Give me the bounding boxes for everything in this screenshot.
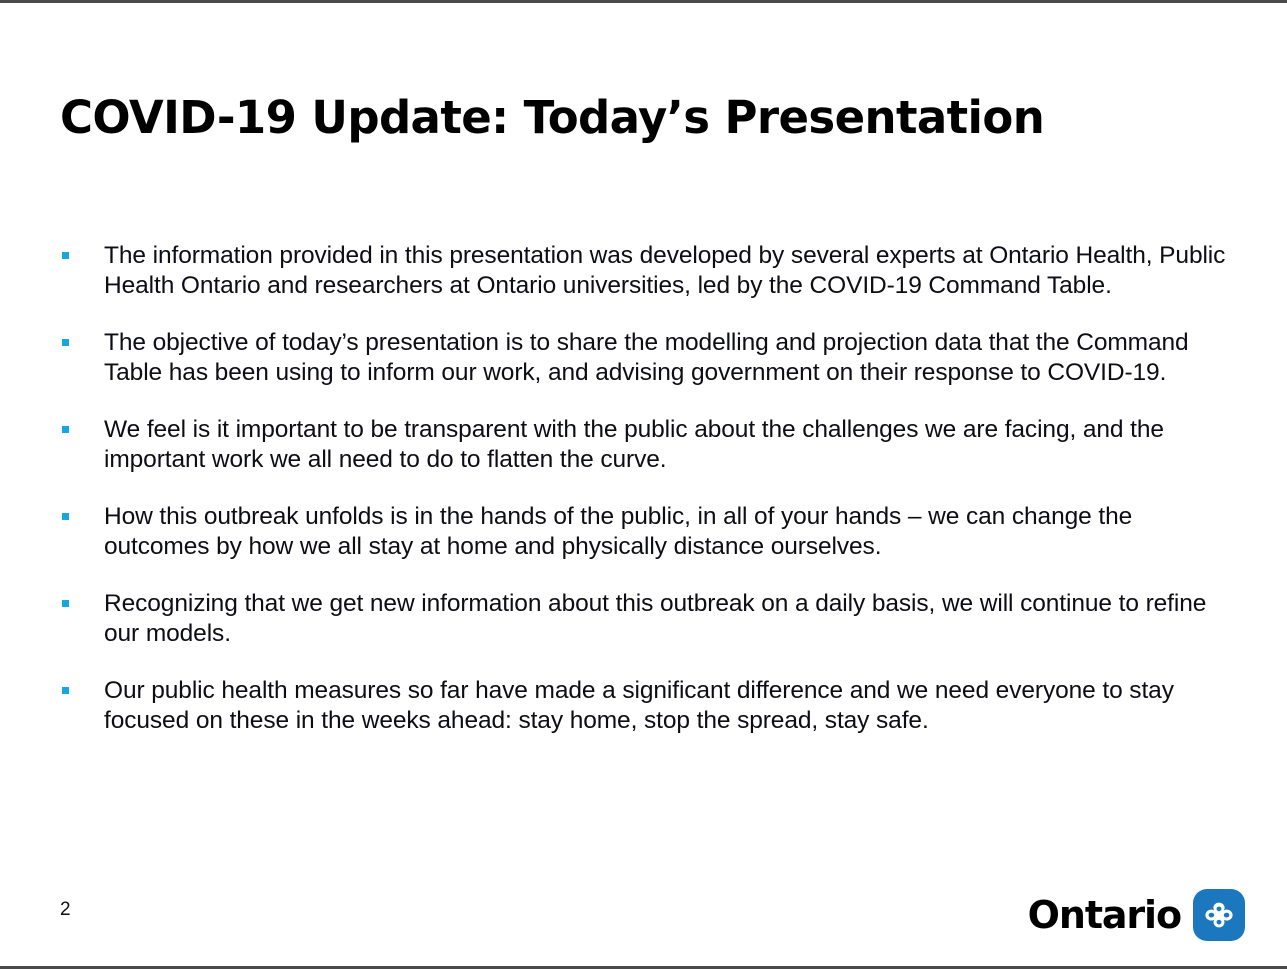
bullet-dot-icon <box>62 426 69 433</box>
bullet-dot-icon <box>62 339 69 346</box>
presentation-slide: COVID-19 Update: Today’s Presentation Th… <box>0 0 1287 969</box>
list-item-text: We feel is it important to be transparen… <box>104 415 1238 475</box>
bullet-dot-icon <box>62 513 69 520</box>
list-item: How this outbreak unfolds is in the hand… <box>58 502 1238 562</box>
list-item-text: The information provided in this present… <box>104 241 1238 301</box>
bullet-dot-icon <box>62 252 69 259</box>
bullet-list: The information provided in this present… <box>58 241 1238 736</box>
ontario-logo: Ontario <box>1028 889 1245 941</box>
ontario-trillium-icon <box>1193 889 1245 941</box>
bullet-dot-icon <box>62 687 69 694</box>
list-item-text: Our public health measures so far have m… <box>104 676 1238 736</box>
bullet-dot-icon <box>62 600 69 607</box>
list-item: Our public health measures so far have m… <box>58 676 1238 736</box>
list-item: The objective of today’s presentation is… <box>58 328 1238 388</box>
ontario-wordmark: Ontario <box>1028 896 1181 934</box>
list-item-text: How this outbreak unfolds is in the hand… <box>104 502 1238 562</box>
list-item: Recognizing that we get new information … <box>58 589 1238 649</box>
list-item-text: Recognizing that we get new information … <box>104 589 1238 649</box>
list-item: The information provided in this present… <box>58 241 1238 301</box>
list-item: We feel is it important to be transparen… <box>58 415 1238 475</box>
page-number: 2 <box>60 900 71 919</box>
page-title: COVID-19 Update: Today’s Presentation <box>60 94 1210 143</box>
list-item-text: The objective of today’s presentation is… <box>104 328 1238 388</box>
